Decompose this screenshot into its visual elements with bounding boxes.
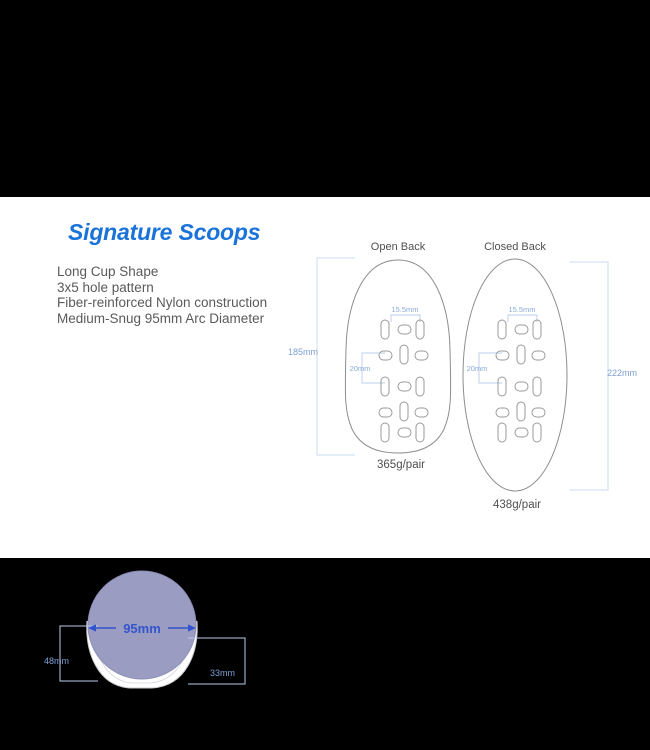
feature-list: Long Cup Shape 3x5 hole pattern Fiber-re…: [57, 264, 267, 326]
feature-item: Long Cup Shape: [57, 264, 267, 280]
hole: [517, 402, 525, 421]
spec-sheet-content: Signature Scoops Long Cup Shape 3x5 hole…: [0, 197, 650, 558]
hole-spacing-bracket-vertical: [362, 353, 385, 383]
hole: [515, 428, 528, 437]
hole-grid-closed-back: [496, 320, 545, 442]
hole: [517, 345, 525, 364]
hole: [533, 320, 541, 339]
hole-spacing-bracket-horizontal: [391, 315, 420, 322]
hole: [416, 377, 424, 396]
hole: [515, 382, 528, 391]
hole: [515, 325, 528, 334]
hole: [496, 408, 509, 417]
feature-item: Fiber-reinforced Nylon construction: [57, 295, 267, 311]
hole: [400, 402, 408, 421]
open-back-header: Open Back: [371, 241, 426, 253]
height-bracket-closed-back: [570, 262, 608, 490]
hole: [416, 320, 424, 339]
hole-spacing-bracket-horizontal: [508, 315, 537, 322]
hole-spacing-label-vertical: 20mm: [350, 364, 371, 373]
arc-diameter-diagram: 48mm 33mm 95mm: [0, 197, 650, 558]
hole: [532, 408, 545, 417]
hole: [398, 382, 411, 391]
height-bracket-open-back: [317, 258, 355, 455]
hole: [533, 377, 541, 396]
hole-spacing-label-horizontal: 15.5mm: [391, 305, 418, 314]
hole: [398, 428, 411, 437]
hole: [381, 377, 389, 396]
hole: [533, 423, 541, 442]
feature-item: Medium-Snug 95mm Arc Diameter: [57, 311, 267, 327]
closed-back-shell-outline: [463, 259, 567, 491]
hole: [398, 325, 411, 334]
hole-spacing-label-vertical: 20mm: [467, 364, 488, 373]
hole: [496, 351, 509, 360]
hole-grid-open-back: [379, 320, 428, 442]
hole: [498, 377, 506, 396]
open-back-shell-outline: [345, 260, 450, 453]
page-title: Signature Scoops: [68, 219, 260, 246]
open-back-diagram: Open Back 185mm 15.5mm 20mm: [0, 197, 650, 558]
hole: [498, 320, 506, 339]
hole: [415, 408, 428, 417]
hole: [415, 351, 428, 360]
hole: [379, 351, 392, 360]
feature-item: 3x5 hole pattern: [57, 280, 267, 296]
hole: [532, 351, 545, 360]
hole: [379, 408, 392, 417]
hole: [498, 423, 506, 442]
closed-back-header: Closed Back: [484, 241, 546, 253]
height-label-open-back: 185mm: [288, 347, 318, 357]
hole: [381, 320, 389, 339]
letterbox-bar-top: [0, 0, 650, 197]
hole-spacing-label-horizontal: 15.5mm: [508, 305, 535, 314]
letterbox-bar-bottom: [0, 558, 650, 750]
open-back-weight: 365g/pair: [377, 459, 425, 471]
hole: [381, 423, 389, 442]
closed-back-weight: 438g/pair: [493, 499, 541, 511]
closed-back-diagram: Closed Back 222mm 15.5mm 20mm: [0, 197, 650, 558]
hole: [400, 345, 408, 364]
hole-spacing-bracket-vertical: [479, 353, 502, 383]
hole: [416, 423, 424, 442]
height-label-closed-back: 222mm: [607, 368, 637, 378]
